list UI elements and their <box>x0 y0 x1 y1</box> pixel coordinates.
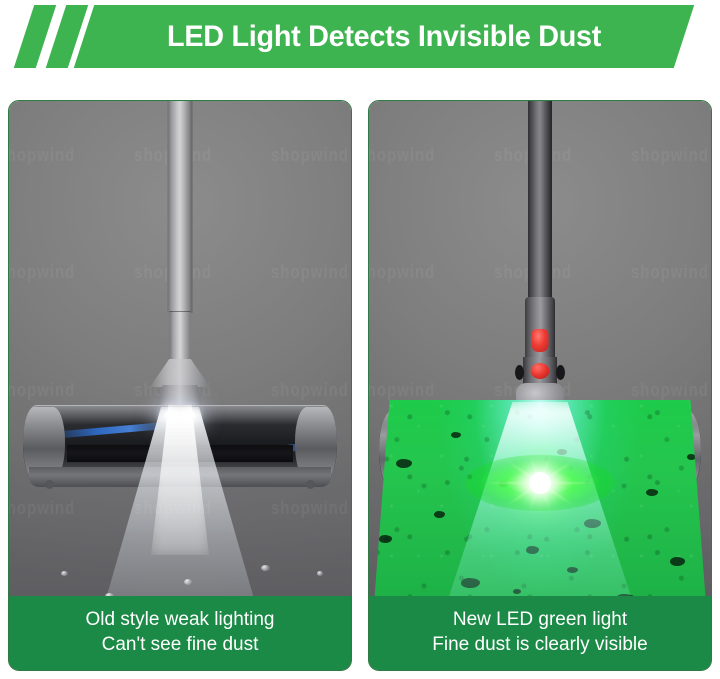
caption-old-style: Old style weak lighting Can't see fine d… <box>9 596 351 670</box>
green-laser-point <box>529 472 551 494</box>
vacuum-wheel <box>306 480 315 489</box>
floor-droplet <box>61 571 68 576</box>
red-power-button[interactable] <box>531 363 550 379</box>
caption-line-2: Can't see fine dust <box>15 632 345 657</box>
vacuum-wand-lower-left <box>170 311 191 364</box>
page-title: LED Light Detects Invisible Dust <box>167 22 601 52</box>
dust-particle <box>670 557 685 566</box>
floor-droplet <box>184 579 192 585</box>
panel-old-style: shopwind shopwind shopwind shopwind shop… <box>8 100 352 671</box>
panel-new-led: shopwind shopwind shopwind shopwind shop… <box>368 100 712 671</box>
caption-line-2: Fine dust is clearly visible <box>375 632 705 657</box>
vacuum-wheel <box>45 480 54 489</box>
dust-particle <box>434 511 445 518</box>
vacuum-wand-upper-left <box>168 101 193 313</box>
caption-new-led: New LED green light Fine dust is clearly… <box>369 596 711 670</box>
floor-droplet <box>317 571 323 576</box>
caption-line-1: New LED green light <box>375 607 705 632</box>
comparison-panels: shopwind shopwind shopwind shopwind shop… <box>0 100 720 671</box>
floor-droplet <box>261 565 270 571</box>
vacuum-wand-upper-right <box>528 101 552 301</box>
caption-line-1: Old style weak lighting <box>15 607 345 632</box>
header-title-wrap: LED Light Detects Invisible Dust <box>84 5 684 68</box>
header-banner: LED Light Detects Invisible Dust <box>0 0 720 78</box>
vacuum-vent-icon <box>556 365 565 380</box>
vacuum-vent-icon <box>515 365 524 380</box>
red-release-button[interactable] <box>532 329 549 352</box>
